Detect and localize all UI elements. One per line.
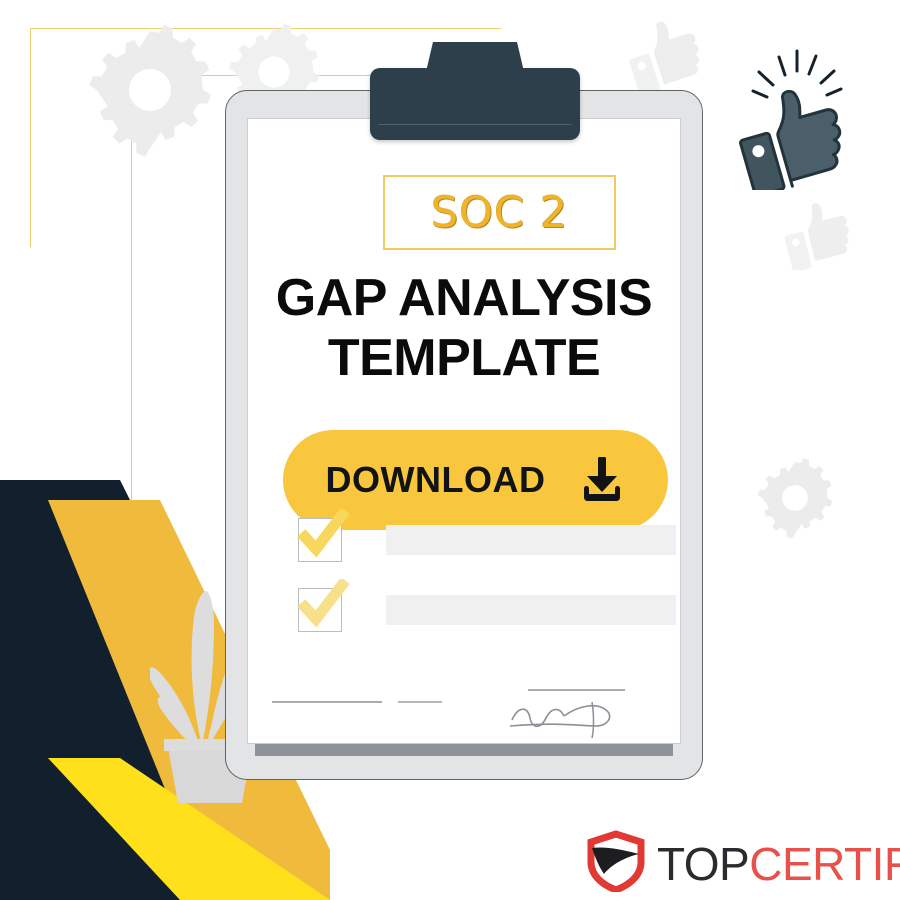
thumbs-up-icon — [735, 45, 860, 190]
page-title-line2: TEMPLATE — [250, 328, 678, 388]
check-icon — [297, 509, 349, 570]
placeholder-bar — [386, 525, 676, 555]
gear-icon — [752, 455, 838, 541]
logo-word-top: TOP — [657, 838, 749, 890]
soc2-badge: SOC 2 — [383, 175, 616, 250]
page-title-line1: GAP ANALYSIS — [276, 269, 652, 327]
download-arrow-icon — [579, 455, 625, 506]
list-item[interactable] — [298, 588, 676, 632]
clipboard-clip-tab — [425, 42, 525, 76]
checkbox[interactable] — [298, 518, 342, 562]
shield-check-icon — [585, 830, 647, 897]
list-item[interactable] — [298, 518, 676, 562]
clipboard: SOC 2 GAP ANALYSIS TEMPLATE DOWNLOAD — [225, 90, 703, 780]
checkbox[interactable] — [298, 588, 342, 632]
logo-word-certifier: CERTIFIER — [749, 838, 900, 890]
poster-content: SOC 2 GAP ANALYSIS TEMPLATE DOWNLOAD — [250, 120, 678, 740]
gear-icon — [80, 20, 220, 160]
poster-canvas: SOC 2 GAP ANALYSIS TEMPLATE DOWNLOAD — [0, 0, 900, 900]
topcertifier-logo: TOPCERTIFIER — [585, 830, 900, 897]
download-button-label: DOWNLOAD — [326, 459, 546, 501]
thumbs-up-icon — [782, 200, 857, 270]
clipboard-bottom-shadow — [255, 744, 673, 756]
soc2-badge-label: SOC 2 — [431, 188, 568, 238]
thumbs-up-icon — [626, 18, 708, 94]
placeholder-bar — [386, 595, 676, 625]
page-title: GAP ANALYSIS TEMPLATE — [250, 268, 678, 388]
signature-area — [270, 680, 660, 740]
logo-wordmark: TOPCERTIFIER — [657, 841, 900, 887]
check-icon — [297, 579, 349, 640]
